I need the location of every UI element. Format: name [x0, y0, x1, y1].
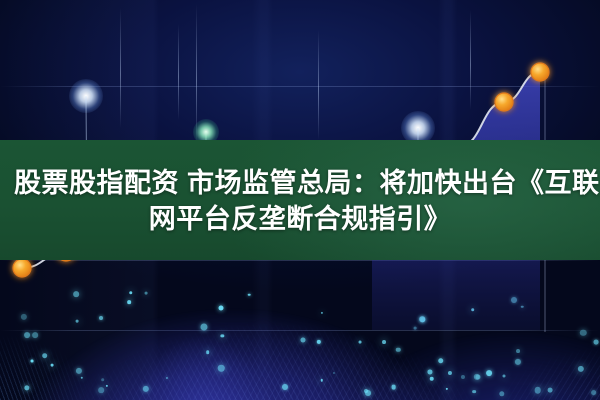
headline-line-2: 网平台反垄断合规指引》	[14, 202, 586, 238]
banner-image: 股票股指配资 市场监管总局：将加快出台《互联 网平台反垄断合规指引》	[0, 0, 600, 400]
chart-data-point	[13, 259, 31, 277]
headline-text: 股票股指配资 市场监管总局：将加快出台《互联 网平台反垄断合规指引》	[0, 166, 600, 237]
chart-data-point	[531, 63, 549, 81]
headline-line-1: 股票股指配资 市场监管总局：将加快出台《互联	[14, 166, 586, 202]
chart-data-point	[495, 93, 513, 111]
